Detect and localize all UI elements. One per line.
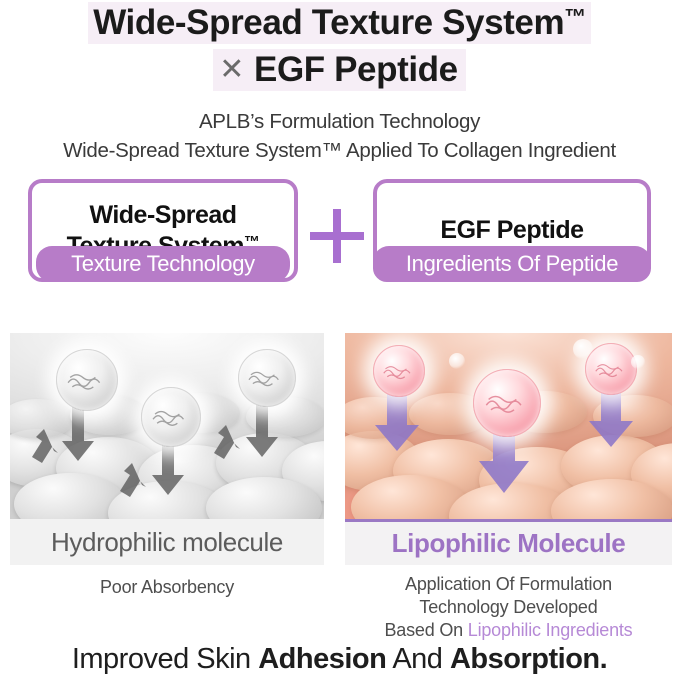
panel-hydrophilic: Hydrophilic molecule [10, 333, 324, 565]
title-text-primary: Wide-Spread Texture System™ [88, 2, 591, 44]
title-text-egf: EGF Peptide [254, 50, 458, 89]
subtitle-line-1: APLB’s Formulation Technology [0, 107, 679, 136]
title-line-1: Wide-Spread Texture System™ [0, 2, 679, 44]
molecule-squiggle-icon [382, 361, 417, 382]
panel-caption-hydrophilic: Hydrophilic molecule [10, 519, 324, 565]
concept-card-egf-peptide[interactable]: EGF Peptide Ingredients Of Peptide [373, 179, 651, 282]
tagline-part-2: And [386, 643, 450, 675]
title-block: Wide-Spread Texture System™ ✕EGF Peptide [0, 0, 679, 91]
plus-icon [310, 209, 364, 263]
molecule-sphere-gray-3 [238, 349, 296, 407]
under-caption-left: Poor Absorbency [10, 577, 324, 598]
panel-image-hydrophilic [10, 333, 324, 519]
tagline-part-1: Improved Skin [72, 643, 258, 675]
title-line-2: ✕EGF Peptide [0, 49, 679, 91]
under-caption-right-line2: Technology Developed [419, 597, 597, 617]
concept-row: Wide-Spread Texture System™ Texture Tech… [0, 179, 679, 319]
subtitle-block: APLB’s Formulation Technology Wide-Sprea… [0, 107, 679, 165]
panel-image-lipophilic [345, 333, 672, 519]
subtitle-line-2: Wide-Spread Texture System™ Applied To C… [0, 136, 679, 165]
molecule-sphere-pink-3 [585, 343, 637, 395]
molecule-sphere-gray-2 [141, 387, 201, 447]
concept-pill-right: Ingredients Of Peptide [373, 246, 651, 282]
concept-title-left-line1: Wide-Spread [89, 201, 236, 229]
molecule-sphere-pink-1 [373, 345, 425, 397]
under-caption-right: Application Of Formulation Technology De… [345, 573, 672, 642]
title-text-secondary: ✕EGF Peptide [213, 49, 465, 91]
under-caption-right-highlight: Lipophilic Ingredients [468, 620, 633, 640]
under-caption-right-line3-prefix: Based On [385, 620, 468, 640]
under-caption-right-line1: Application Of Formulation [405, 574, 612, 594]
concept-title-right: EGF Peptide [440, 215, 583, 246]
molecule-squiggle-icon [151, 405, 192, 429]
molecule-squiggle-icon [484, 389, 530, 417]
comparison-panels: Hydrophilic molecule [0, 333, 679, 565]
panel-caption-lipophilic: Lipophilic Molecule [345, 519, 672, 565]
molecule-sphere-pink-2 [473, 369, 541, 437]
tagline-bold-adhesion: Adhesion [258, 643, 386, 675]
infographic-page: Wide-Spread Texture System™ ✕EGF Peptide… [0, 0, 679, 679]
molecule-sphere-gray-1 [56, 349, 118, 411]
under-captions: Poor Absorbency Application Of Formulati… [0, 573, 679, 639]
molecule-squiggle-icon [66, 368, 108, 393]
tagline-bold-absorption: Absorption. [450, 643, 607, 675]
cross-icon: ✕ [219, 53, 254, 86]
molecule-squiggle-icon [594, 359, 629, 380]
title-text-main: Wide-Spread Texture System [93, 3, 564, 42]
concept-card-texture-system[interactable]: Wide-Spread Texture System™ Texture Tech… [28, 179, 298, 282]
trademark-icon: ™ [564, 4, 586, 29]
concept-pill-left: Texture Technology [36, 246, 290, 282]
molecule-squiggle-icon [247, 366, 286, 390]
panel-lipophilic: Lipophilic Molecule [345, 333, 672, 565]
tagline: Improved Skin Adhesion And Absorption. [0, 643, 679, 676]
